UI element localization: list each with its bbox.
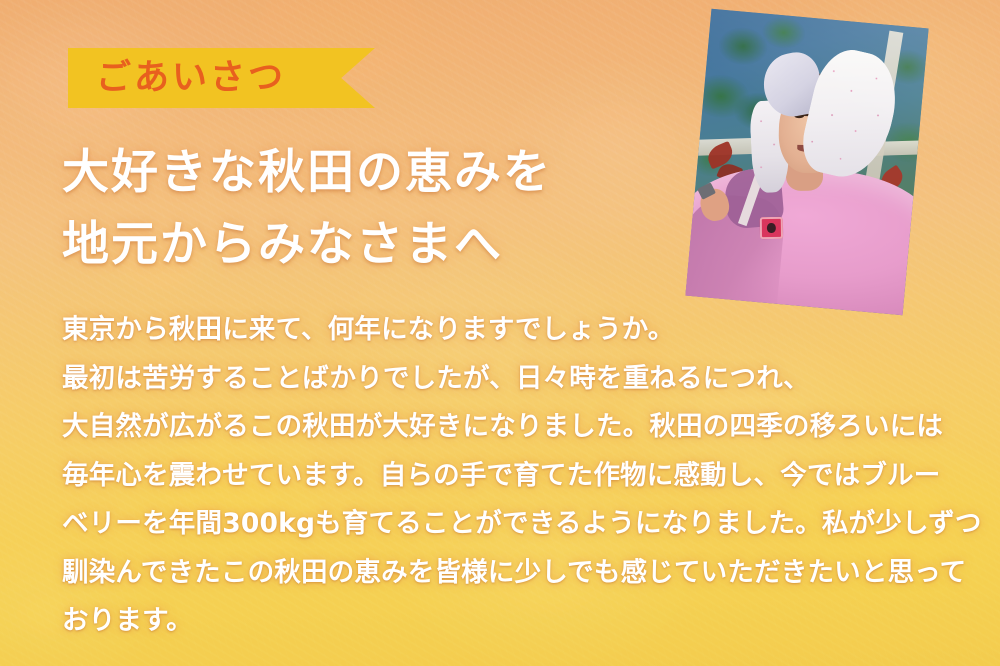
greeting-body-line-6: 馴染んできたこの秋田の恵みを皆様に少しでも感じていただきたいと思って [62,549,962,598]
greeting-body-line-3: 大自然が広がるこの秋田が大好きになりました。秋田の四季の移ろいには [62,403,962,452]
greeting-body-line-1: 東京から秋田に来て、何年になりますでしょうか。 [62,306,962,355]
page-title-line-2: 地元からみなさまへ [62,209,702,281]
greeting-body-line-2: 最初は苦労することばかりでしたが、日々時を重ねるにつれ、 [62,355,962,404]
farmer-photo-image [685,9,928,316]
greeting-body-line-4: 毎年心を震わせています。自らの手で育てた作物に感動し、今ではブルー [62,452,962,501]
greeting-body: 東京から秋田に来て、何年になりますでしょうか。 最初は苦労することばかりでしたが… [62,306,962,646]
farmer-photo [685,9,928,316]
photo-gloss-overlay [685,9,928,316]
page-title-line-1: 大好きな秋田の恵みを [62,137,702,209]
greeting-page: ごあいさつ 大好きな秋田の恵みを 地元からみなさまへ 東京から秋田に来て、何年に… [0,0,1000,666]
greeting-body-line-7: おります。 [62,597,962,646]
greeting-body-line-5: ベリーを年間300kgも育てることができるようになりました。私が少しずつ [62,500,962,549]
page-title: 大好きな秋田の恵みを 地元からみなさまへ [62,137,702,281]
ribbon-label: ごあいさつ [96,55,346,101]
